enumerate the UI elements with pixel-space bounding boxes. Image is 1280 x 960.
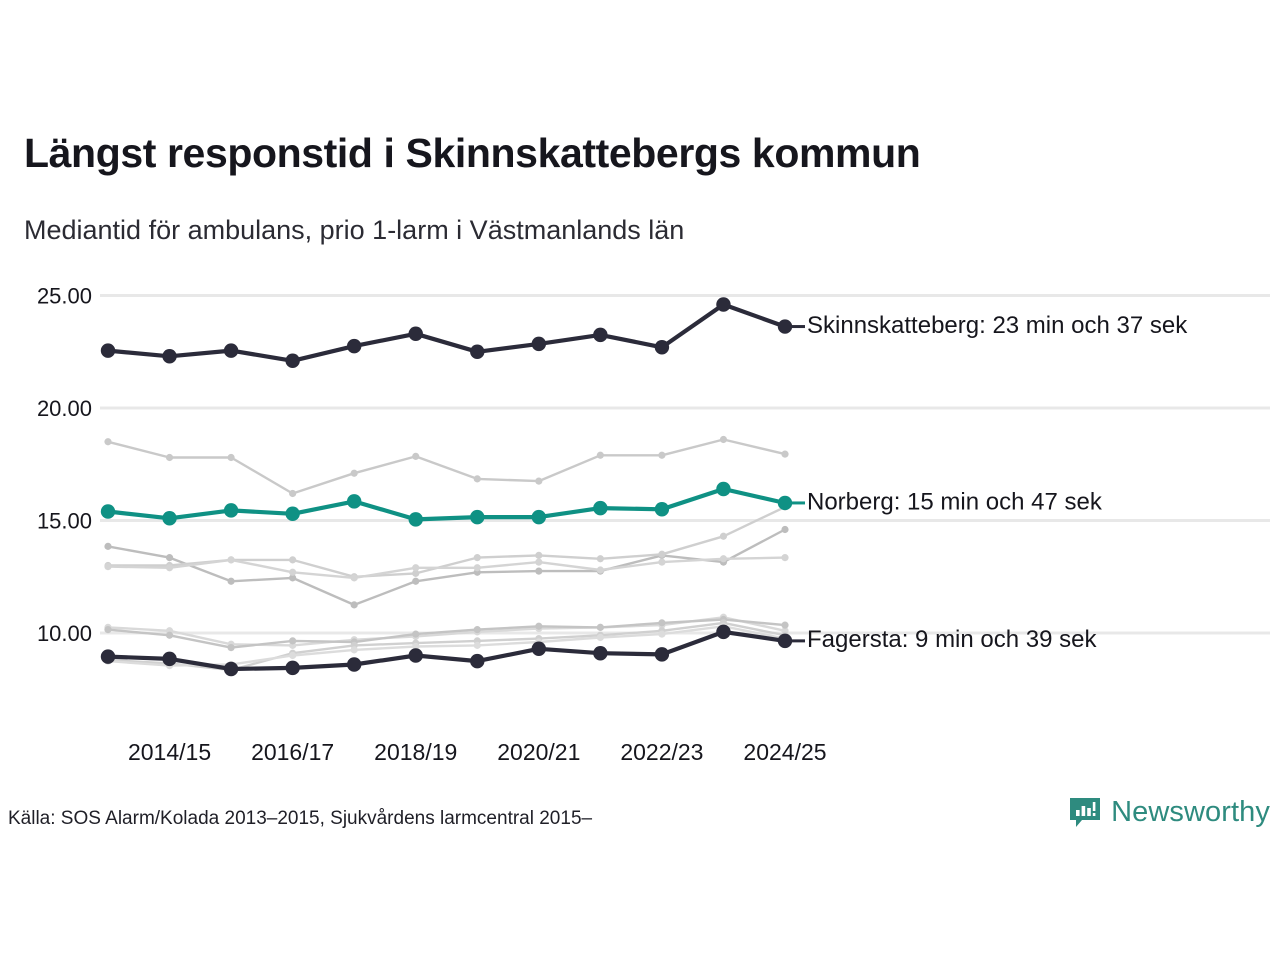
data-point: [104, 543, 111, 550]
data-point: [351, 470, 358, 477]
data-point: [347, 494, 361, 508]
data-point: [104, 626, 111, 633]
data-point: [778, 319, 792, 333]
source-note: Källa: SOS Alarm/Kolada 2013–2015, Sjukv…: [8, 808, 592, 830]
data-point: [658, 559, 665, 566]
data-point: [101, 343, 115, 357]
data-point: [227, 556, 234, 563]
x-axis-tick-label: 2020/21: [497, 739, 580, 765]
data-point: [474, 642, 481, 649]
x-axis-tick-label: 2022/23: [620, 739, 703, 765]
data-point: [778, 634, 792, 648]
data-point: [597, 452, 604, 459]
data-point: [104, 563, 111, 570]
y-axis-tick-label: 10.00: [37, 621, 92, 646]
x-axis-tick-label: 2018/19: [374, 739, 457, 765]
data-point: [227, 578, 234, 585]
data-point: [658, 631, 665, 638]
data-point: [535, 568, 542, 575]
data-point: [347, 657, 361, 671]
newsworthy-logo: Newsworthy: [1068, 795, 1270, 829]
series-line: [108, 632, 785, 669]
data-point: [412, 578, 419, 585]
data-point: [535, 478, 542, 485]
bar-chart-speech-bubble-icon: [1068, 795, 1102, 829]
data-point: [658, 452, 665, 459]
data-point: [655, 340, 669, 354]
series-annotation-label: Fagersta: 9 min och 39 sek: [807, 626, 1097, 653]
page-subtitle: Mediantid för ambulans, prio 1-larm i Vä…: [24, 215, 684, 246]
data-point: [289, 652, 296, 659]
data-point: [166, 454, 173, 461]
data-point: [101, 649, 115, 663]
data-point: [224, 343, 238, 357]
data-point: [655, 502, 669, 516]
data-point: [224, 662, 238, 676]
data-point: [535, 559, 542, 566]
data-point: [532, 510, 546, 524]
x-axis-tick-label: 2014/15: [128, 739, 211, 765]
data-point: [470, 654, 484, 668]
data-point: [781, 451, 788, 458]
data-point: [409, 648, 423, 662]
data-point: [166, 632, 173, 639]
data-point: [162, 349, 176, 363]
data-point: [720, 555, 727, 562]
data-point: [412, 631, 419, 638]
series-annotation-label: Norberg: 15 min och 47 sek: [807, 488, 1103, 515]
data-point: [474, 564, 481, 571]
x-axis-tick-label: 2016/17: [251, 739, 334, 765]
data-point: [285, 507, 299, 521]
data-point: [101, 504, 115, 518]
data-point: [781, 526, 788, 533]
data-point: [532, 642, 546, 656]
data-point: [409, 512, 423, 526]
data-point: [289, 556, 296, 563]
series-line: [108, 305, 785, 361]
data-point: [224, 503, 238, 517]
logo-wordmark: Newsworthy: [1111, 796, 1270, 829]
data-point: [162, 652, 176, 666]
data-point: [593, 501, 607, 515]
data-point: [351, 601, 358, 608]
series-line: [108, 440, 785, 494]
data-point: [474, 475, 481, 482]
y-axis-tick-label: 25.00: [37, 284, 92, 309]
x-axis-tick-label: 2024/25: [743, 739, 826, 765]
data-point: [720, 436, 727, 443]
series-bakgrund-1: [104, 436, 788, 497]
line-chart: 10.0015.0020.0025.00Skinnskatteberg: 23 …: [0, 260, 1280, 790]
data-point: [285, 354, 299, 368]
data-point: [658, 551, 665, 558]
data-point: [289, 569, 296, 576]
data-point: [716, 297, 730, 311]
chart-page: Längst responstid i Skinnskattebergs kom…: [0, 0, 1280, 960]
data-point: [535, 623, 542, 630]
data-point: [227, 644, 234, 651]
series-line: [108, 489, 785, 519]
series-annotation-label: Skinnskatteberg: 23 min och 37 sek: [807, 312, 1188, 339]
series-skinnskatteberg: [101, 297, 792, 368]
data-point: [655, 647, 669, 661]
data-point: [781, 554, 788, 561]
data-point: [778, 496, 792, 510]
chart-container: 10.0015.0020.0025.00Skinnskatteberg: 23 …: [0, 260, 1280, 790]
data-point: [412, 453, 419, 460]
y-axis-tick-label: 20.00: [37, 396, 92, 421]
data-point: [166, 564, 173, 571]
data-point: [470, 345, 484, 359]
data-point: [720, 533, 727, 540]
data-point: [285, 661, 299, 675]
data-point: [597, 555, 604, 562]
y-axis-tick-label: 15.00: [37, 509, 92, 534]
data-point: [104, 438, 111, 445]
data-point: [474, 626, 481, 633]
data-point: [716, 625, 730, 639]
data-point: [470, 510, 484, 524]
data-point: [535, 552, 542, 559]
data-point: [162, 511, 176, 525]
data-point: [166, 554, 173, 561]
data-point: [289, 490, 296, 497]
data-point: [597, 634, 604, 641]
data-point: [716, 482, 730, 496]
data-point: [658, 619, 665, 626]
data-point: [351, 646, 358, 653]
data-point: [781, 622, 788, 629]
data-point: [412, 564, 419, 571]
data-point: [347, 339, 361, 353]
data-point: [227, 454, 234, 461]
data-point: [474, 554, 481, 561]
data-point: [289, 637, 296, 644]
data-point: [409, 327, 423, 341]
page-title: Längst responstid i Skinnskattebergs kom…: [24, 130, 920, 177]
data-point: [593, 328, 607, 342]
data-point: [532, 337, 546, 351]
data-point: [593, 646, 607, 660]
data-point: [351, 574, 358, 581]
series-line: [108, 558, 785, 578]
data-point: [597, 624, 604, 631]
data-point: [597, 566, 604, 573]
